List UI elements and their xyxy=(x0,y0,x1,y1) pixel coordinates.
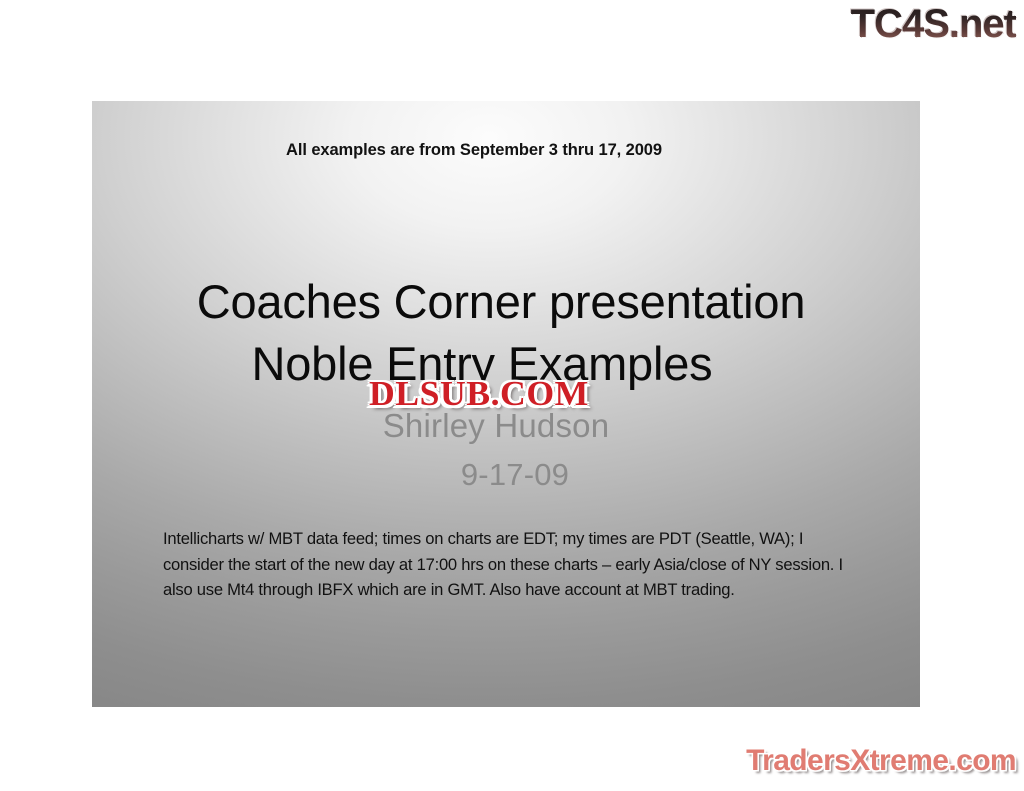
tc4s-site-logo: TC4S.net xyxy=(851,2,1016,46)
slide-title-line-1: Coaches Corner presentation xyxy=(92,271,915,333)
slide-body-text: Intellicharts w/ MBT data feed; times on… xyxy=(163,526,853,603)
slide-kicker: All examples are from September 3 thru 1… xyxy=(92,141,920,160)
slide-byline: Shirley Hudson 9-17-09 xyxy=(92,403,920,501)
dlsub-watermark: DLSUB.COM xyxy=(369,376,589,411)
slide-kicker-text: All examples are from September 3 thru 1… xyxy=(286,141,662,159)
presentation-date: 9-17-09 xyxy=(101,449,920,501)
presentation-slide: All examples are from September 3 thru 1… xyxy=(92,101,920,707)
tradersxtreme-site-logo: TradersXtreme.com xyxy=(746,744,1016,778)
